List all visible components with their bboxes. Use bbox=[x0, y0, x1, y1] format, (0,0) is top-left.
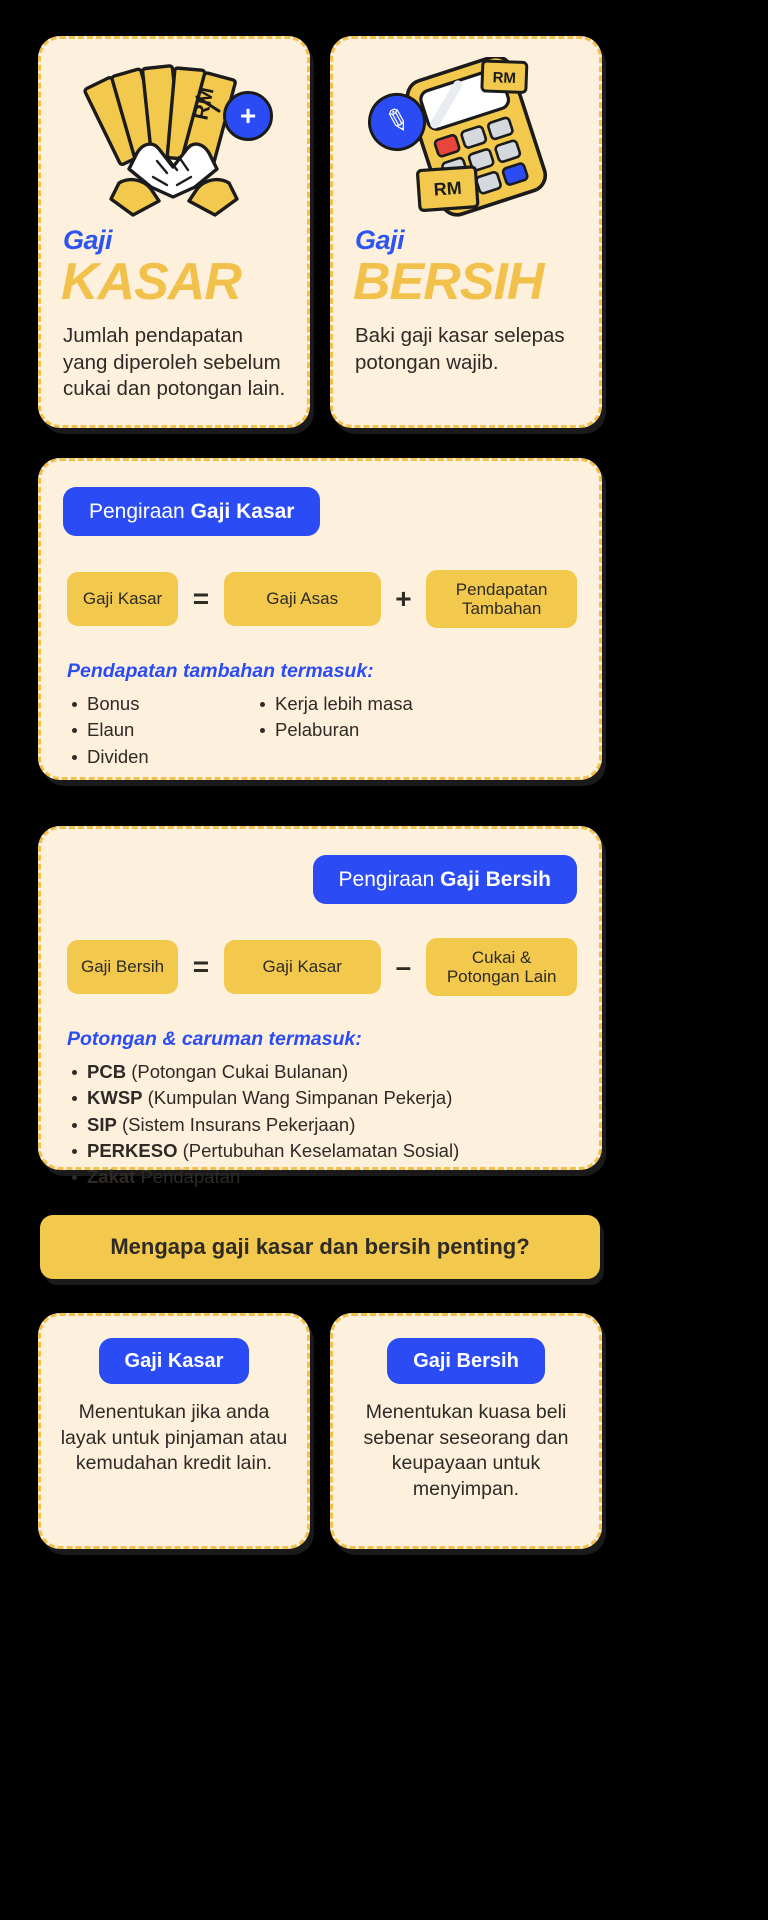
section-pengiraan-gaji-bersih: Pengiraan Gaji Bersih Gaji Bersih = Gaji… bbox=[38, 826, 602, 1170]
formula-net: Gaji Bersih = Gaji Kasar – Cukai & Poton… bbox=[63, 938, 577, 996]
money-in-hands-illustration: RM + bbox=[59, 53, 289, 221]
item-abbr: Zakat bbox=[87, 1166, 135, 1187]
section-title-prefix: Pengiraan bbox=[339, 868, 441, 891]
operator-minus: – bbox=[393, 951, 415, 983]
item-expansion: Pendapatan bbox=[135, 1166, 240, 1187]
infographic-page: RM + Gaji KASAR Jumlah pendapatan yang d… bbox=[0, 0, 768, 1920]
operator-equals: = bbox=[190, 583, 212, 615]
item-expansion: (Sistem Insurans Pekerjaan) bbox=[117, 1114, 356, 1135]
benefit-label: Gaji Bersih bbox=[387, 1338, 545, 1384]
card-gaji-bersih: RM RM ✎ Gaji BERSIH Baki gaji kasar sele… bbox=[330, 36, 602, 428]
list-item: Elaun bbox=[67, 717, 235, 743]
plus-icon: + bbox=[223, 91, 273, 141]
list-heading-net: Potongan & caruman termasuk: bbox=[67, 1028, 577, 1051]
item-abbr: PCB bbox=[87, 1061, 126, 1082]
card-gaji-kasar: RM + Gaji KASAR Jumlah pendapatan yang d… bbox=[38, 36, 310, 428]
card-kicker: Gaji bbox=[355, 227, 581, 254]
item-expansion: (Pertubuhan Keselamatan Sosial) bbox=[177, 1140, 459, 1161]
benefit-label: Gaji Kasar bbox=[99, 1338, 250, 1384]
section-title-net: Pengiraan Gaji Bersih bbox=[313, 855, 577, 904]
section-title-strong: Gaji Bersih bbox=[440, 868, 551, 891]
card-title: BERSIH bbox=[353, 256, 581, 309]
list-column-2: Kerja lebih masa Pelaburan bbox=[255, 691, 413, 770]
svg-text:RM: RM bbox=[433, 178, 462, 200]
definition-cards-row: RM + Gaji KASAR Jumlah pendapatan yang d… bbox=[0, 36, 768, 428]
section-title-gross: Pengiraan Gaji Kasar bbox=[63, 487, 320, 536]
svg-text:RM: RM bbox=[492, 69, 516, 87]
formula-term-1-box: Gaji Asas bbox=[224, 572, 381, 626]
item-abbr: SIP bbox=[87, 1114, 117, 1135]
list-item: Dividen bbox=[67, 744, 235, 770]
operator-plus: + bbox=[393, 583, 415, 615]
operator-equals: = bbox=[190, 951, 212, 983]
formula-result-box: Gaji Kasar bbox=[67, 572, 178, 626]
list-item: SIP (Sistem Insurans Pekerjaan) bbox=[67, 1112, 577, 1138]
item-abbr: KWSP bbox=[87, 1087, 143, 1108]
list-item: KWSP (Kumpulan Wang Simpanan Pekerja) bbox=[67, 1085, 577, 1111]
benefit-text: Menentukan jika anda layak untuk pinjama… bbox=[57, 1400, 291, 1477]
list-item: PCB (Potongan Cukai Bulanan) bbox=[67, 1059, 577, 1085]
deductions-list: PCB (Potongan Cukai Bulanan) KWSP (Kumpu… bbox=[63, 1059, 577, 1190]
list-item: Pelaburan bbox=[255, 717, 413, 743]
card-title: KASAR bbox=[61, 256, 289, 309]
formula-term-2-box: Pendapatan Tambahan bbox=[426, 570, 577, 628]
benefit-card-gaji-kasar: Gaji Kasar Menentukan jika anda layak un… bbox=[38, 1313, 310, 1549]
item-expansion: (Kumpulan Wang Simpanan Pekerja) bbox=[143, 1087, 453, 1108]
calculator-illustration: RM RM ✎ bbox=[351, 53, 581, 221]
formula-result-box: Gaji Bersih bbox=[67, 940, 178, 994]
formula-term-2-box: Cukai & Potongan Lain bbox=[426, 938, 577, 996]
card-kicker: Gaji bbox=[63, 227, 289, 254]
card-description: Baki gaji kasar selepas potongan wajib. bbox=[355, 323, 581, 376]
list-item: Bonus bbox=[67, 691, 235, 717]
benefit-card-gaji-bersih: Gaji Bersih Menentukan kuasa beli sebena… bbox=[330, 1313, 602, 1549]
benefit-text: Menentukan kuasa beli sebenar seseorang … bbox=[349, 1400, 583, 1503]
section-title-prefix: Pengiraan bbox=[89, 500, 191, 523]
list-item: Kerja lebih masa bbox=[255, 691, 413, 717]
formula-gross: Gaji Kasar = Gaji Asas + Pendapatan Tamb… bbox=[63, 570, 577, 628]
list-item: PERKESO (Pertubuhan Keselamatan Sosial) bbox=[67, 1138, 577, 1164]
item-expansion: (Potongan Cukai Bulanan) bbox=[126, 1061, 348, 1082]
list-columns-gross: Bonus Elaun Dividen Kerja lebih masa Pel… bbox=[63, 691, 577, 770]
list-column-1: Bonus Elaun Dividen bbox=[67, 691, 235, 770]
list-item: Zakat Pendapatan bbox=[67, 1164, 577, 1190]
why-important-banner: Mengapa gaji kasar dan bersih penting? bbox=[40, 1215, 600, 1279]
card-description: Jumlah pendapatan yang diperoleh sebelum… bbox=[63, 323, 289, 403]
section-pengiraan-gaji-kasar: Pengiraan Gaji Kasar Gaji Kasar = Gaji A… bbox=[38, 458, 602, 780]
item-abbr: PERKESO bbox=[87, 1140, 177, 1161]
list-heading-gross: Pendapatan tambahan termasuk: bbox=[67, 660, 577, 683]
section-title-strong: Gaji Kasar bbox=[191, 500, 295, 523]
formula-term-1-box: Gaji Kasar bbox=[224, 940, 381, 994]
